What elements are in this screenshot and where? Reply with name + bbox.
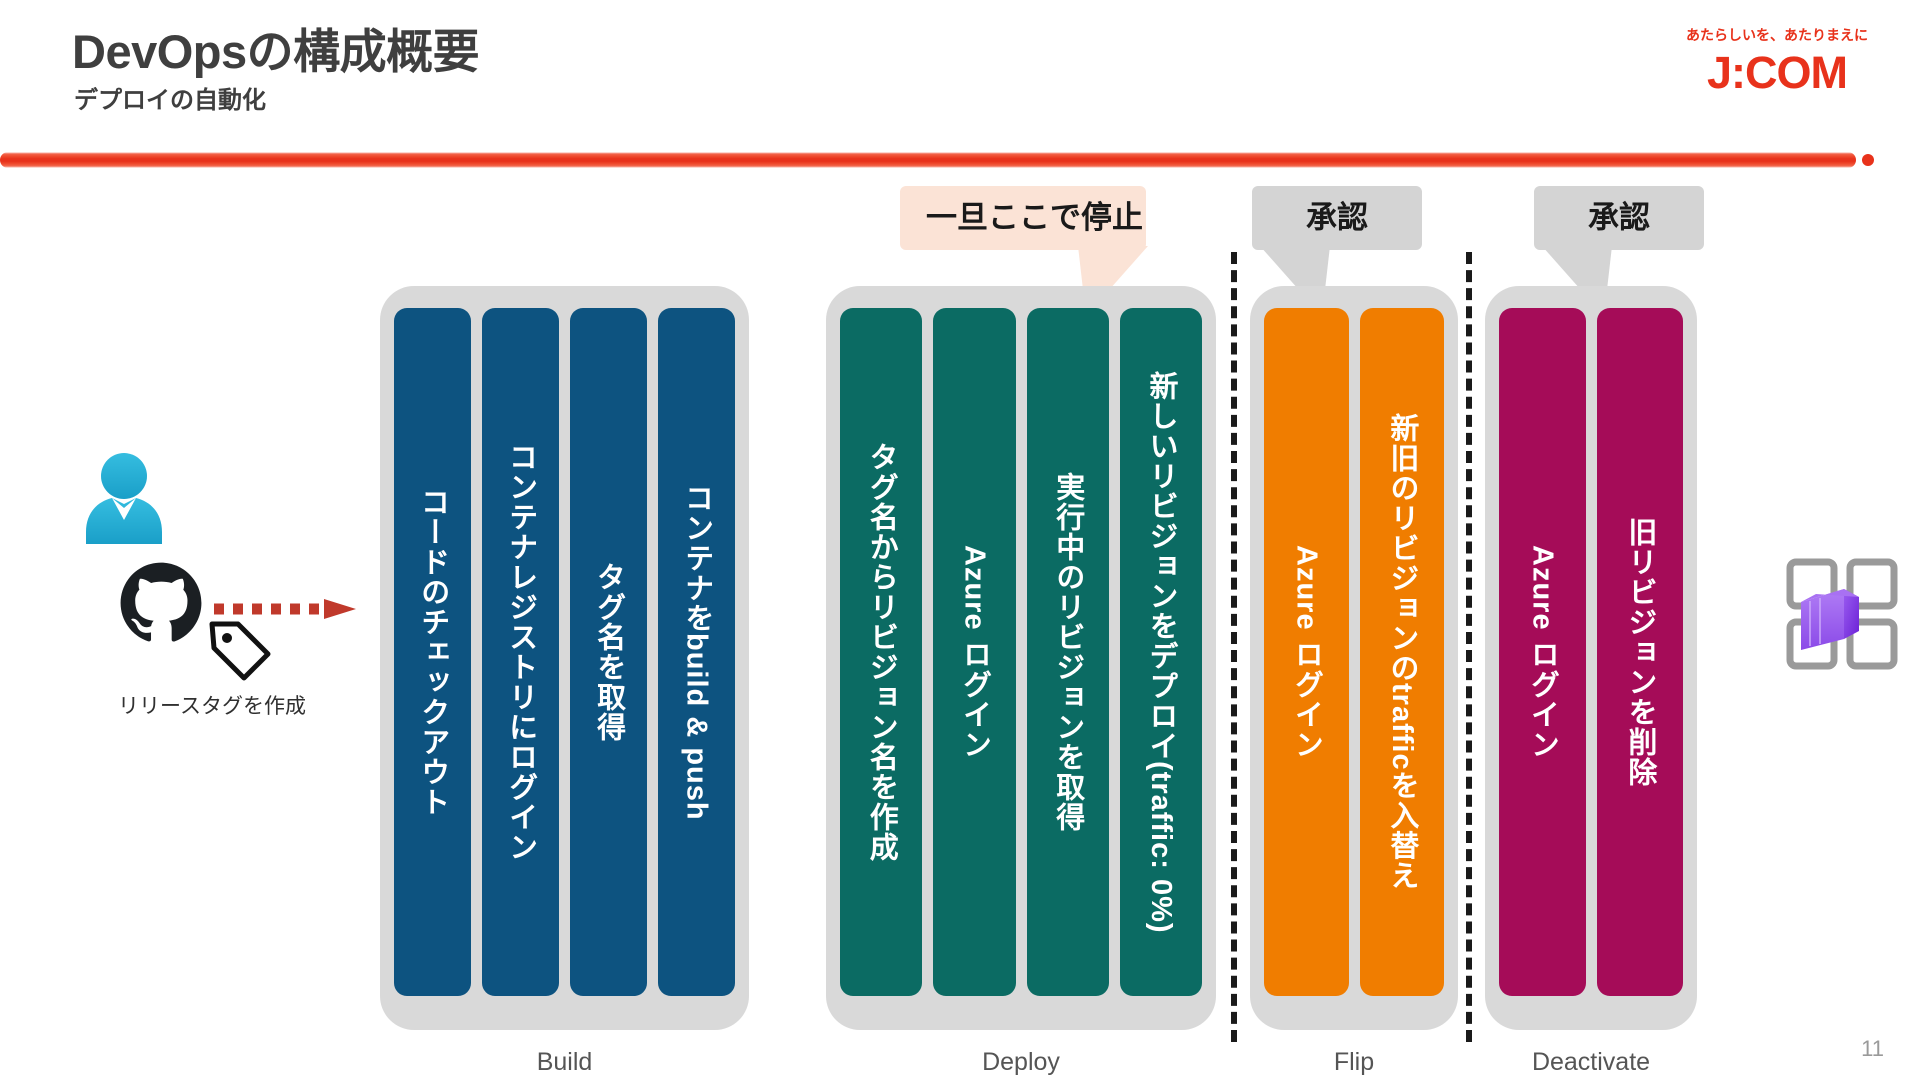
callout-2: 承認 (1534, 186, 1704, 250)
page-title: DevOpsの構成概要 (72, 26, 479, 78)
step-bar[interactable]: Azure ログイン (1264, 308, 1349, 996)
step-label: 新旧のリビジョンのtrafficを入替え (1385, 413, 1419, 891)
header-rule (0, 152, 1856, 168)
stage-deactivate: Azure ログイン旧リビジョンを削除Deactivate (1485, 286, 1697, 1030)
step-label: コンテナをbuild & push (679, 483, 713, 821)
stage-deploy: タグ名からリビジョン名を作成Azure ログイン実行中のリビジョンを取得新しいリ… (826, 286, 1216, 1030)
step-label: コンテナレジストリにログイン (503, 442, 537, 862)
step-bar[interactable]: タグ名からリビジョン名を作成 (840, 308, 922, 996)
callout-0: 一旦ここで停止 (900, 186, 1146, 250)
header-rule-dot (1862, 154, 1874, 166)
dashed-arrow-right-icon (212, 598, 358, 620)
step-label: 実行中のリビジョンを取得 (1051, 472, 1085, 832)
step-label: タグ名を取得 (591, 562, 625, 742)
callout-1: 承認 (1252, 186, 1422, 250)
stage-divider-0 (1231, 252, 1237, 1042)
step-label: Azure ログイン (957, 545, 991, 760)
step-label: Azure ログイン (1289, 545, 1323, 760)
callout-label: 承認 (1252, 186, 1422, 250)
step-bar[interactable]: タグ名を取得 (570, 308, 647, 996)
step-bar[interactable]: 新しいリビジョンをデプロイ(traffic: 0%) (1120, 308, 1202, 996)
stage-divider-1 (1466, 252, 1472, 1042)
logo-wordmark: J:COM (1686, 50, 1868, 95)
step-bar[interactable]: 旧リビジョンを削除 (1597, 308, 1684, 996)
page-number: 11 (1861, 1036, 1884, 1062)
step-label: コードのチェックアウト (415, 487, 449, 817)
stage-steps: Azure ログイン旧リビジョンを削除 (1499, 308, 1683, 996)
stage-label: Build (380, 1048, 749, 1077)
stage-steps: タグ名からリビジョン名を作成Azure ログイン実行中のリビジョンを取得新しいリ… (840, 308, 1202, 996)
stage-steps: コードのチェックアウトコンテナレジストリにログインタグ名を取得コンテナをbuil… (394, 308, 735, 996)
callout-label: 一旦ここで停止 (900, 186, 1146, 250)
step-bar[interactable]: Azure ログイン (933, 308, 1015, 996)
github-icon (118, 560, 204, 646)
tag-icon (208, 618, 272, 682)
stage-build: コードのチェックアウトコンテナレジストリにログインタグ名を取得コンテナをbuil… (380, 286, 749, 1030)
slide: DevOpsの構成概要 デプロイの自動化 あたらしいを、あたりまえに J:COM (0, 0, 1920, 1080)
page-subtitle: デプロイの自動化 (74, 88, 266, 114)
stage-label: Deactivate (1485, 1048, 1697, 1077)
stage-flip: Azure ログイン新旧のリビジョンのtrafficを入替えFlip (1250, 286, 1458, 1030)
step-label: 新しいリビジョンをデプロイ(traffic: 0%) (1144, 371, 1178, 934)
azure-container-apps-icon (1784, 556, 1900, 672)
step-bar[interactable]: 新旧のリビジョンのtrafficを入替え (1360, 308, 1445, 996)
stage-label: Deploy (826, 1048, 1216, 1077)
step-bar[interactable]: 実行中のリビジョンを取得 (1027, 308, 1109, 996)
person-icon (82, 452, 166, 544)
actor-label: リリースタグを作成 (62, 690, 362, 720)
step-bar[interactable]: Azure ログイン (1499, 308, 1586, 996)
jcom-logo: あたらしいを、あたりまえに J:COM (1686, 28, 1868, 95)
step-bar[interactable]: コンテナをbuild & push (658, 308, 735, 996)
step-label: Azure ログイン (1525, 545, 1559, 760)
step-bar[interactable]: コンテナレジストリにログイン (482, 308, 559, 996)
stage-label: Flip (1250, 1048, 1458, 1077)
step-label: タグ名からリビジョン名を作成 (864, 442, 898, 862)
step-bar[interactable]: コードのチェックアウト (394, 308, 471, 996)
callout-label: 承認 (1534, 186, 1704, 250)
step-label: 旧リビジョンを削除 (1623, 517, 1657, 787)
logo-tagline: あたらしいを、あたりまえに (1686, 28, 1868, 42)
stage-steps: Azure ログイン新旧のリビジョンのtrafficを入替え (1264, 308, 1444, 996)
